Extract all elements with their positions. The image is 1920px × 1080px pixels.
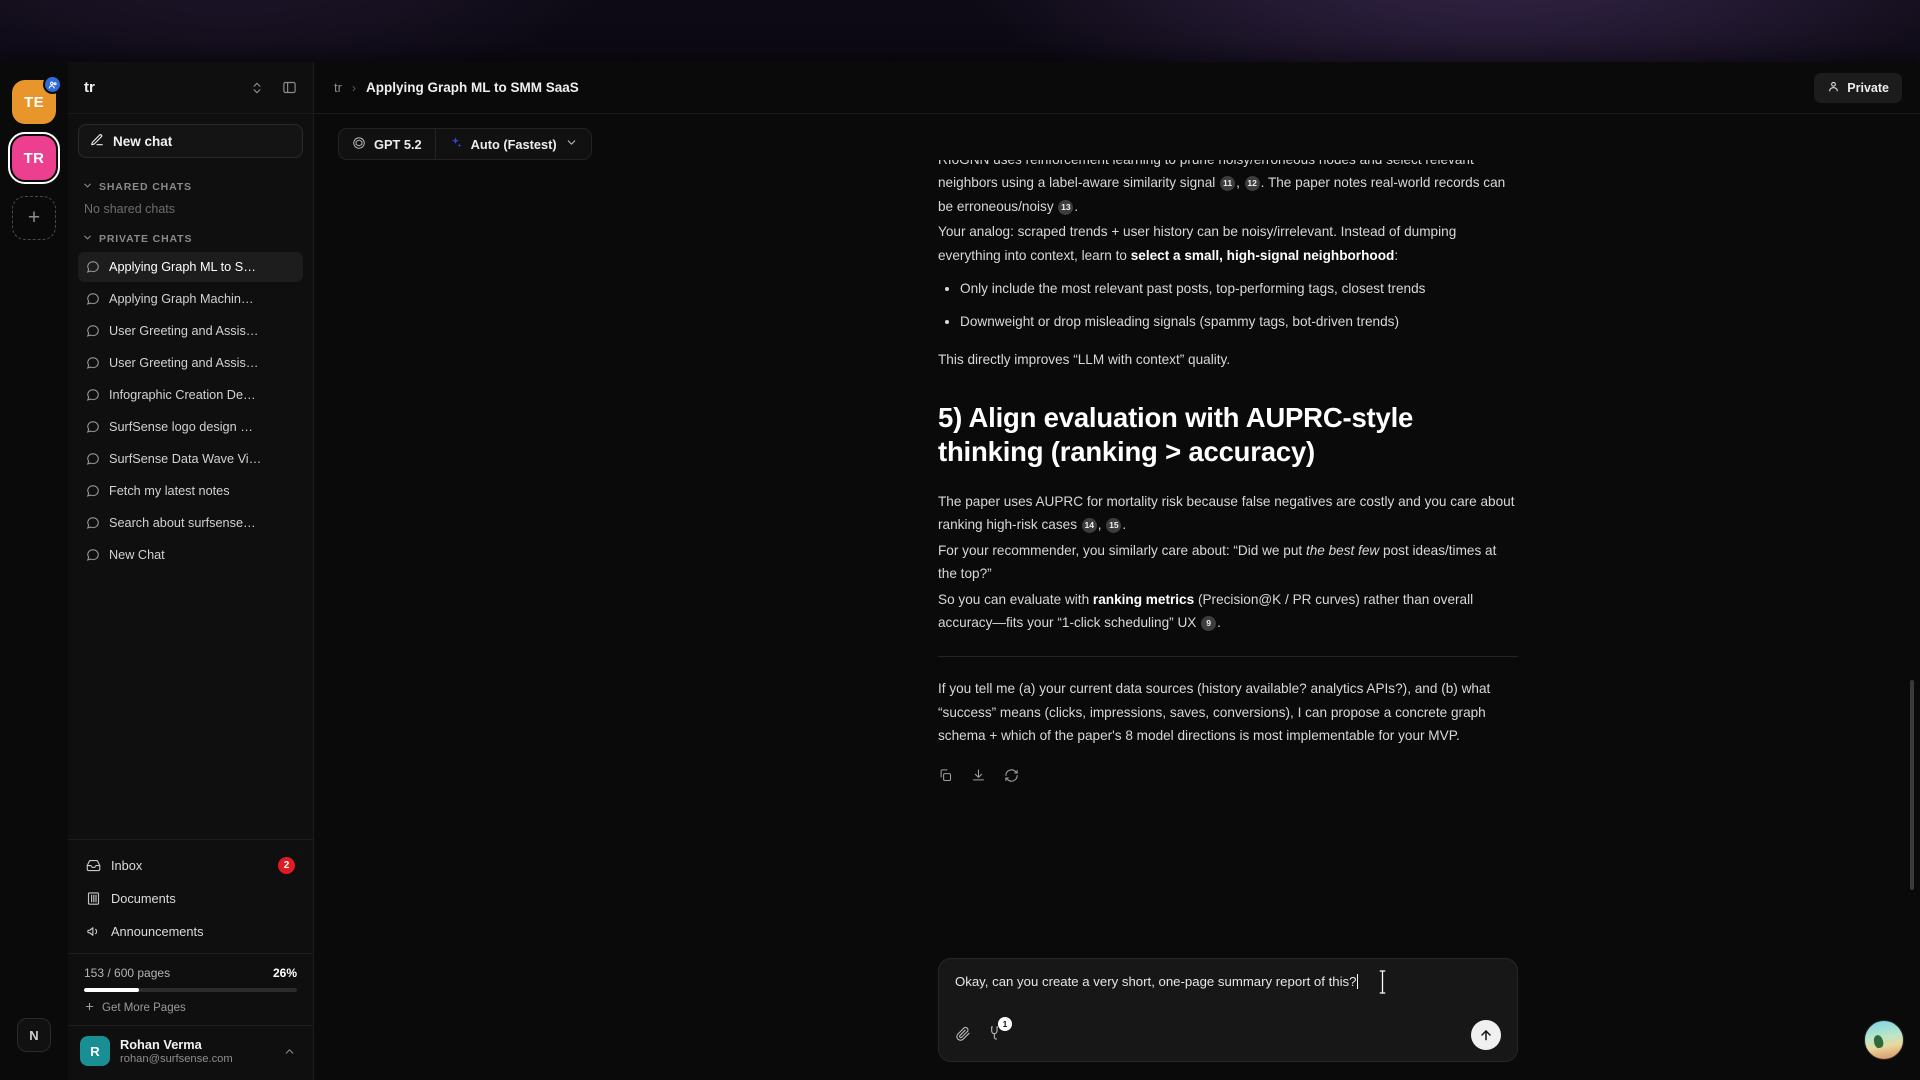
usage-meter: 153 / 600 pages 26% Get More Pages [68, 953, 313, 1025]
workspace-avatar-tr-label: TR [24, 150, 45, 167]
model-label: GPT 5.2 [374, 137, 422, 152]
chat-item-label: User Greeting and Assis… [109, 324, 259, 338]
chat-list-item[interactable]: SurfSense Data Wave Vi… [78, 444, 303, 474]
person-icon [1827, 80, 1840, 96]
chat-list-item[interactable]: Applying Graph Machin… [78, 284, 303, 314]
sidebar-item-documents[interactable]: Documents [78, 883, 303, 913]
citation-pill[interactable]: 12 [1245, 176, 1260, 191]
chat-list-item[interactable]: Applying Graph ML to S… [78, 252, 303, 282]
chat-list-item[interactable]: Search about surfsense… [78, 508, 303, 538]
sidebar-item-inbox[interactable]: Inbox 2 [78, 850, 303, 880]
paragraph-riognn: RIoGNN uses reinforcement learning to pr… [938, 160, 1518, 218]
composer-toolbar: 1 [955, 1020, 1501, 1050]
model-bar: GPT 5.2 Auto (Fastest) [314, 114, 1920, 160]
chat-list-item[interactable]: User Greeting and Assis… [78, 316, 303, 346]
chevron-down-icon [82, 232, 93, 246]
usage-progress-fill [84, 988, 139, 992]
composer-value: Okay, can you create a very short, one-p… [955, 974, 1356, 989]
rail-bottom-avatar[interactable]: N [17, 1018, 51, 1052]
thread-scrollbar[interactable] [1910, 680, 1914, 890]
paragraph-recommender: For your recommender, you similarly care… [938, 539, 1518, 586]
paragraph-auprc: The paper uses AUPRC for mortality risk … [938, 490, 1518, 537]
section-heading: 5) Align evaluation with AUPRC-style thi… [938, 401, 1518, 468]
workspace-avatar-tr[interactable]: TR [12, 136, 56, 180]
privacy-label: Private [1847, 81, 1889, 95]
compose-icon [90, 133, 104, 150]
chat-item-label: User Greeting and Assis… [109, 356, 259, 370]
workspace-avatar-te[interactable]: TE [12, 80, 56, 124]
citation-pill[interactable]: 14 [1082, 518, 1097, 533]
paragraph-ranking-metrics: So you can evaluate with ranking metrics… [938, 588, 1518, 635]
chevron-down-icon [82, 180, 93, 194]
chat-item-label: Search about surfsense… [109, 516, 256, 530]
new-chat-label: New chat [113, 134, 172, 149]
workspace-name[interactable]: tr [84, 79, 237, 96]
openai-logo-icon [352, 136, 366, 153]
connectors-icon[interactable]: 1 [987, 1025, 1003, 1046]
chat-list-item[interactable]: SurfSense logo design … [78, 412, 303, 442]
model-chip[interactable]: GPT 5.2 [339, 129, 435, 159]
plus-icon [84, 1001, 95, 1015]
p6-bold: ranking metrics [1093, 592, 1194, 607]
user-email: rohan@surfsense.com [120, 1053, 267, 1065]
desktop-background: TE TR + N tr [0, 0, 1920, 1080]
citation-pill[interactable]: 11 [1220, 176, 1235, 191]
main-panel: tr › Applying Graph ML to SMM SaaS Priva… [314, 62, 1920, 1080]
p6-part-c: . [1217, 615, 1221, 630]
breadcrumb-root[interactable]: tr [334, 80, 342, 95]
chat-item-label: Applying Graph Machin… [109, 292, 254, 306]
section-header-shared-chats[interactable]: SHARED CHATS [78, 174, 303, 200]
mode-chip[interactable]: Auto (Fastest) [435, 129, 591, 159]
section-header-private-chats[interactable]: PRIVATE CHATS [78, 226, 303, 252]
message-actions [938, 767, 1518, 790]
workspace-rail: TE TR + N [0, 62, 68, 1080]
copy-icon[interactable] [938, 767, 953, 790]
chat-list-item[interactable]: Fetch my latest notes [78, 476, 303, 506]
composer-input[interactable]: Okay, can you create a very short, one-p… [955, 974, 1501, 1008]
user-profile[interactable]: R Rohan Verma rohan@surfsense.com [68, 1025, 313, 1080]
chat-item-label: SurfSense logo design … [109, 420, 253, 434]
sidebar-scroll-area: New chat SHARED CHATS No shared chats PR… [68, 114, 313, 839]
section-title-shared: SHARED CHATS [99, 181, 192, 193]
connectors-count-badge: 1 [998, 1017, 1012, 1031]
chat-item-label: Fetch my latest notes [109, 484, 230, 498]
citation-pill[interactable]: 9 [1201, 616, 1216, 631]
user-name: Rohan Verma [120, 1037, 267, 1052]
usage-percent-label: 26% [273, 966, 297, 980]
sidebar-nav: Inbox 2 Documents Announcements [68, 839, 313, 953]
usage-pages-label: 153 / 600 pages [84, 966, 170, 980]
shared-chats-empty-text: No shared chats [78, 200, 303, 226]
regenerate-icon[interactable] [1004, 767, 1019, 790]
message-composer[interactable]: Okay, can you create a very short, one-p… [938, 958, 1518, 1062]
list-item: Only include the most relevant past post… [960, 277, 1518, 300]
get-more-pages-label: Get More Pages [102, 1002, 186, 1014]
list-item: Downweight or drop misleading signals (s… [960, 310, 1518, 333]
sidebar-item-announcements-label: Announcements [111, 924, 203, 939]
chat-list-item[interactable]: Infographic Creation De… [78, 380, 303, 410]
assistant-message: RIoGNN uses reinforcement learning to pr… [938, 160, 1518, 791]
plus-icon: + [28, 206, 40, 230]
mouse-cursor-ibeam [1377, 967, 1388, 997]
p1-part-c: . [1074, 199, 1078, 214]
sidebar-item-announcements[interactable]: Announcements [78, 916, 303, 946]
top-bar: tr › Applying Graph ML to SMM SaaS Priva… [314, 62, 1920, 114]
collapse-sidebar-icon[interactable] [277, 76, 301, 100]
get-more-pages-button[interactable]: Get More Pages [84, 1001, 297, 1015]
p5-part-a: For your recommender, you similarly care… [938, 543, 1306, 558]
model-selector[interactable]: GPT 5.2 Auto (Fastest) [338, 128, 592, 160]
p5-italic: the best few [1306, 543, 1379, 558]
chat-list-item[interactable]: New Chat [78, 540, 303, 570]
breadcrumb-separator-icon: › [352, 81, 356, 95]
chat-item-label: Applying Graph ML to S… [109, 260, 256, 274]
citation-pill[interactable]: 13 [1058, 200, 1073, 215]
p6-part-a: So you can evaluate with [938, 592, 1093, 607]
p4-part-b: . [1122, 517, 1126, 532]
workspace-header: tr [68, 62, 313, 114]
workspace-switcher-icon[interactable] [245, 76, 269, 100]
add-workspace-button[interactable]: + [12, 196, 56, 240]
send-button[interactable] [1471, 1020, 1501, 1050]
text-caret [1357, 974, 1358, 989]
corner-thumbnail-image[interactable] [1864, 1020, 1904, 1060]
usage-row: 153 / 600 pages 26% [84, 966, 297, 980]
sidebar-item-documents-label: Documents [111, 891, 176, 906]
breadcrumb-current: Applying Graph ML to SMM SaaS [366, 80, 579, 95]
new-chat-button[interactable]: New chat [78, 124, 303, 158]
mode-label: Auto (Fastest) [471, 137, 557, 152]
chevron-down-icon [565, 136, 578, 152]
sidebar: tr New chat [68, 62, 314, 1080]
breadcrumb: tr › Applying Graph ML to SMM SaaS [334, 80, 579, 95]
p2-bold: select a small, high-signal neighborhood [1131, 248, 1395, 263]
app-window: TE TR + N tr [0, 62, 1920, 1080]
chat-item-label: SurfSense Data Wave Vi… [109, 452, 261, 466]
download-icon[interactable] [971, 767, 986, 790]
paragraph-closing: If you tell me (a) your current data sou… [938, 677, 1518, 747]
avatar: R [80, 1036, 110, 1066]
people-badge-icon [43, 75, 62, 94]
paperclip-icon[interactable] [955, 1025, 971, 1046]
inbox-unread-badge: 2 [278, 857, 295, 874]
workspace-avatar-te-label: TE [24, 94, 44, 111]
chat-list-item[interactable]: User Greeting and Assis… [78, 348, 303, 378]
paragraph-analog: Your analog: scraped trends + user histo… [938, 220, 1518, 267]
bullet-list: Only include the most relevant past post… [960, 277, 1518, 334]
avatar-initial: R [90, 1044, 99, 1059]
usage-progress-bar [84, 988, 297, 992]
section-title-private: PRIVATE CHATS [99, 233, 192, 245]
user-profile-text: Rohan Verma rohan@surfsense.com [120, 1037, 267, 1065]
chat-item-label: Infographic Creation De… [109, 388, 256, 402]
rail-bottom-avatar-label: N [29, 1028, 38, 1043]
chevron-up-icon[interactable] [277, 1039, 301, 1063]
message-thread[interactable]: RIoGNN uses reinforcement learning to pr… [314, 160, 1920, 1080]
p4-part-a: The paper uses AUPRC for mortality risk … [938, 494, 1515, 532]
privacy-badge[interactable]: Private [1814, 73, 1902, 103]
p2-part-b: : [1394, 248, 1398, 263]
sparkles-icon [449, 136, 463, 153]
chat-item-label: New Chat [109, 548, 165, 562]
citation-pill[interactable]: 15 [1106, 518, 1121, 533]
divider [938, 656, 1518, 657]
sidebar-item-inbox-label: Inbox [111, 858, 142, 873]
paragraph-llm-context: This directly improves “LLM with context… [938, 348, 1518, 371]
